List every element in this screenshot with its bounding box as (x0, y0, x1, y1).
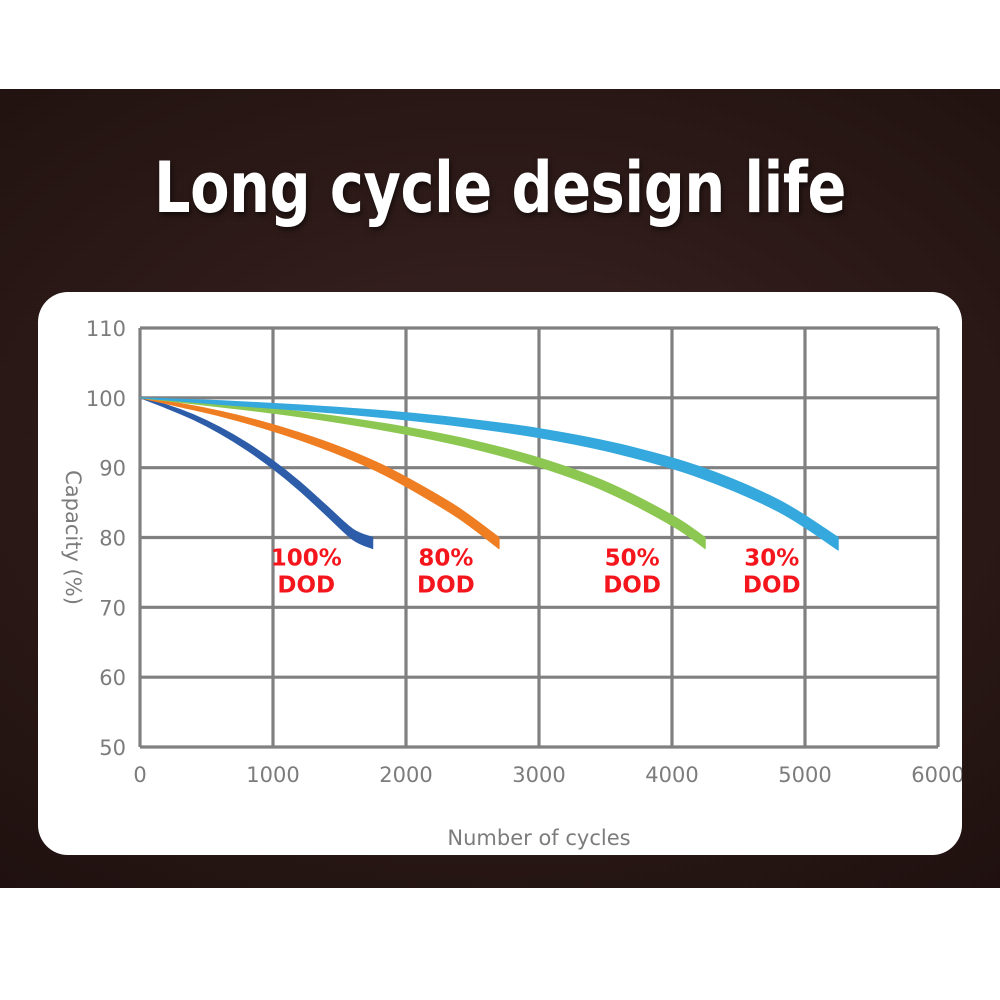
x-axis-title: Number of cycles (447, 826, 630, 850)
series-annotation-30-dod-percent: 30% (744, 545, 799, 571)
x-tick-label: 1000 (246, 763, 299, 787)
y-tick-label: 110 (86, 317, 126, 341)
x-tick-label: 6000 (911, 763, 962, 787)
series-annotations-layer: 100%DOD80%DOD50%DOD30%DOD (271, 545, 801, 598)
series-annotation-100-dod-percent: 100% (271, 545, 342, 571)
x-tick-label: 2000 (379, 763, 432, 787)
capacity-vs-cycles-chart: 100%DOD80%DOD50%DOD30%DOD 50607080901001… (38, 292, 962, 855)
series-annotation-50-dod-percent: 50% (605, 545, 660, 571)
series-layer (140, 398, 838, 550)
series-annotation-100-dod-dod: DOD (277, 572, 335, 598)
y-tick-label: 100 (86, 387, 126, 411)
series-annotation-30-dod-dod: DOD (743, 572, 801, 598)
y-tick-label: 70 (99, 596, 126, 620)
x-tick-label: 3000 (512, 763, 565, 787)
series-annotation-80-dod-percent: 80% (418, 545, 473, 571)
x-tick-label: 4000 (645, 763, 698, 787)
page-title: Long cycle design life (90, 150, 910, 226)
y-axis-title: Capacity (%) (61, 470, 85, 605)
chart-card: 100%DOD80%DOD50%DOD30%DOD 50607080901001… (38, 292, 962, 855)
series-annotation-80-dod-dod: DOD (417, 572, 475, 598)
grid-layer (140, 328, 938, 747)
y-tick-label: 80 (99, 527, 126, 551)
y-tick-label: 60 (99, 666, 126, 690)
y-tick-label: 90 (99, 457, 126, 481)
x-tick-label: 5000 (778, 763, 831, 787)
x-tick-label: 0 (133, 763, 146, 787)
y-tick-label: 50 (99, 736, 126, 760)
chart-page: Long cycle design life 100%DOD80%DOD50%D… (0, 0, 1000, 1000)
series-annotation-50-dod-dod: DOD (603, 572, 661, 598)
